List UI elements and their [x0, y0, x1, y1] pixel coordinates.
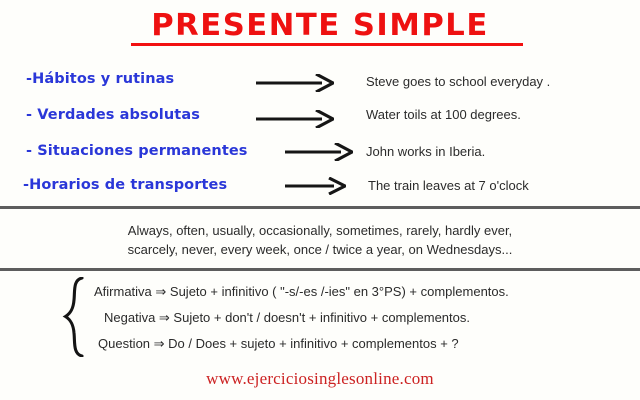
page-title: PRESENTE SIMPLE — [0, 8, 640, 43]
footer-website-url[interactable]: www.ejerciciosinglesonline.com — [0, 369, 640, 389]
right-arrow-icon — [256, 110, 334, 128]
curly-brace-icon — [62, 277, 92, 357]
right-arrow-icon — [285, 177, 346, 195]
form-line-affirmative: Afirmativa ⇒ Sujeto + infinitivo ( "-s/-… — [94, 284, 509, 300]
title-underline — [131, 43, 523, 46]
adverbs-line-1: Always, often, usually, occasionally, so… — [0, 221, 640, 240]
worksheet-page: PRESENTE SIMPLE -Hábitos y rutinas - Ver… — [0, 0, 640, 400]
use-category-4: -Horarios de transportes — [23, 177, 227, 193]
use-category-1: -Hábitos y rutinas — [26, 71, 174, 87]
adverbs-line-2: scarcely, never, every week, once / twic… — [0, 240, 640, 259]
right-arrow-icon — [285, 143, 353, 161]
use-category-2: - Verdades absolutas — [26, 107, 200, 123]
use-example-3: John works in Iberia. — [366, 144, 485, 159]
form-line-negative: Negativa ⇒ Sujeto + don't / doesn't + in… — [104, 310, 470, 326]
adverbs-of-frequency-block: Always, often, usually, occasionally, so… — [0, 221, 640, 259]
use-example-1: Steve goes to school everyday . — [366, 74, 550, 89]
right-arrow-icon — [256, 74, 334, 92]
section-divider-top — [0, 206, 640, 209]
section-divider-bottom — [0, 268, 640, 271]
use-category-3: - Situaciones permanentes — [26, 143, 248, 159]
use-example-2: Water toils at 100 degrees. — [366, 107, 521, 122]
use-example-4: The train leaves at 7 o'clock — [368, 178, 529, 193]
form-line-question: Question ⇒ Do / Does + sujeto + infiniti… — [98, 336, 459, 352]
